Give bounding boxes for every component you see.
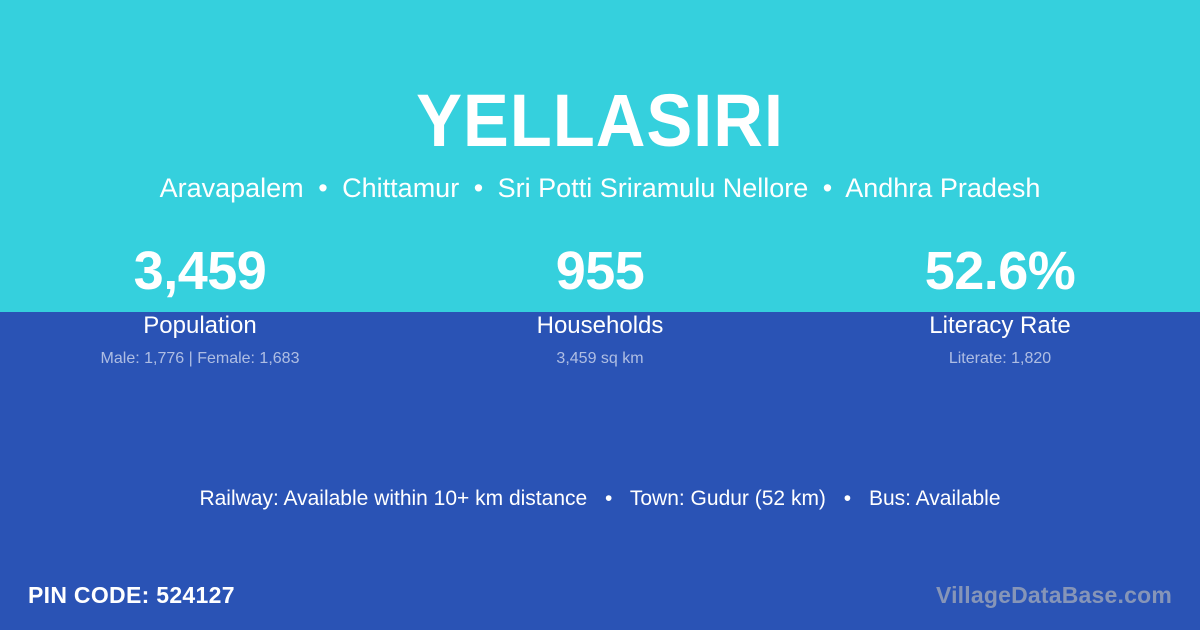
stat-label-literacy-rate: Literacy Rate [800,312,1200,340]
stats-row: 3,459 Population Male: 1,776 | Female: 1… [0,240,1200,369]
stat-label-population: Population [0,312,400,340]
transport-railway: Railway: Available within 10+ km distanc… [199,487,587,510]
breadcrumb-item-district: Sri Potti Sriramulu Nellore [498,173,809,203]
stat-sub-literacy-rate: Literate: 1,820 [800,349,1200,369]
transport-separator: • [832,487,863,510]
breadcrumb-item-mandal: Aravapalem [160,173,304,203]
header-block: YELLASIRI Aravapalem • Chittamur • Sri P… [0,0,1200,204]
stat-literacy-rate: 52.6% Literacy Rate Literate: 1,820 [800,240,1200,369]
village-info-card: YELLASIRI Aravapalem • Chittamur • Sri P… [0,0,1200,630]
stat-label-households: Households [400,312,800,340]
breadcrumb-separator: • [467,173,490,203]
stat-sub-households: 3,459 sq km [400,349,800,369]
stat-households: 955 Households 3,459 sq km [400,240,800,369]
breadcrumb-item-subdistrict: Chittamur [342,173,459,203]
pin-code: PIN CODE: 524127 [28,581,235,609]
breadcrumb-item-state: Andhra Pradesh [845,173,1040,203]
stat-value-literacy-rate: 52.6% [800,240,1200,302]
transport-town: Town: Gudur (52 km) [630,487,826,510]
breadcrumb-separator: • [816,173,839,203]
footer-bar: PIN CODE: 524127 VillageDataBase.com [0,560,1200,630]
stat-sub-population: Male: 1,776 | Female: 1,683 [0,349,400,369]
site-watermark: VillageDataBase.com [936,581,1172,609]
page-title: YELLASIRI [42,82,1158,160]
stat-value-households: 955 [400,240,800,302]
breadcrumb-separator: • [311,173,334,203]
transport-bus: Bus: Available [869,487,1001,510]
stat-value-population: 3,459 [0,240,400,302]
transport-separator: • [593,487,624,510]
stat-population: 3,459 Population Male: 1,776 | Female: 1… [0,240,400,369]
transport-info: Railway: Available within 10+ km distanc… [0,485,1200,513]
breadcrumb: Aravapalem • Chittamur • Sri Potti Srira… [0,172,1200,204]
